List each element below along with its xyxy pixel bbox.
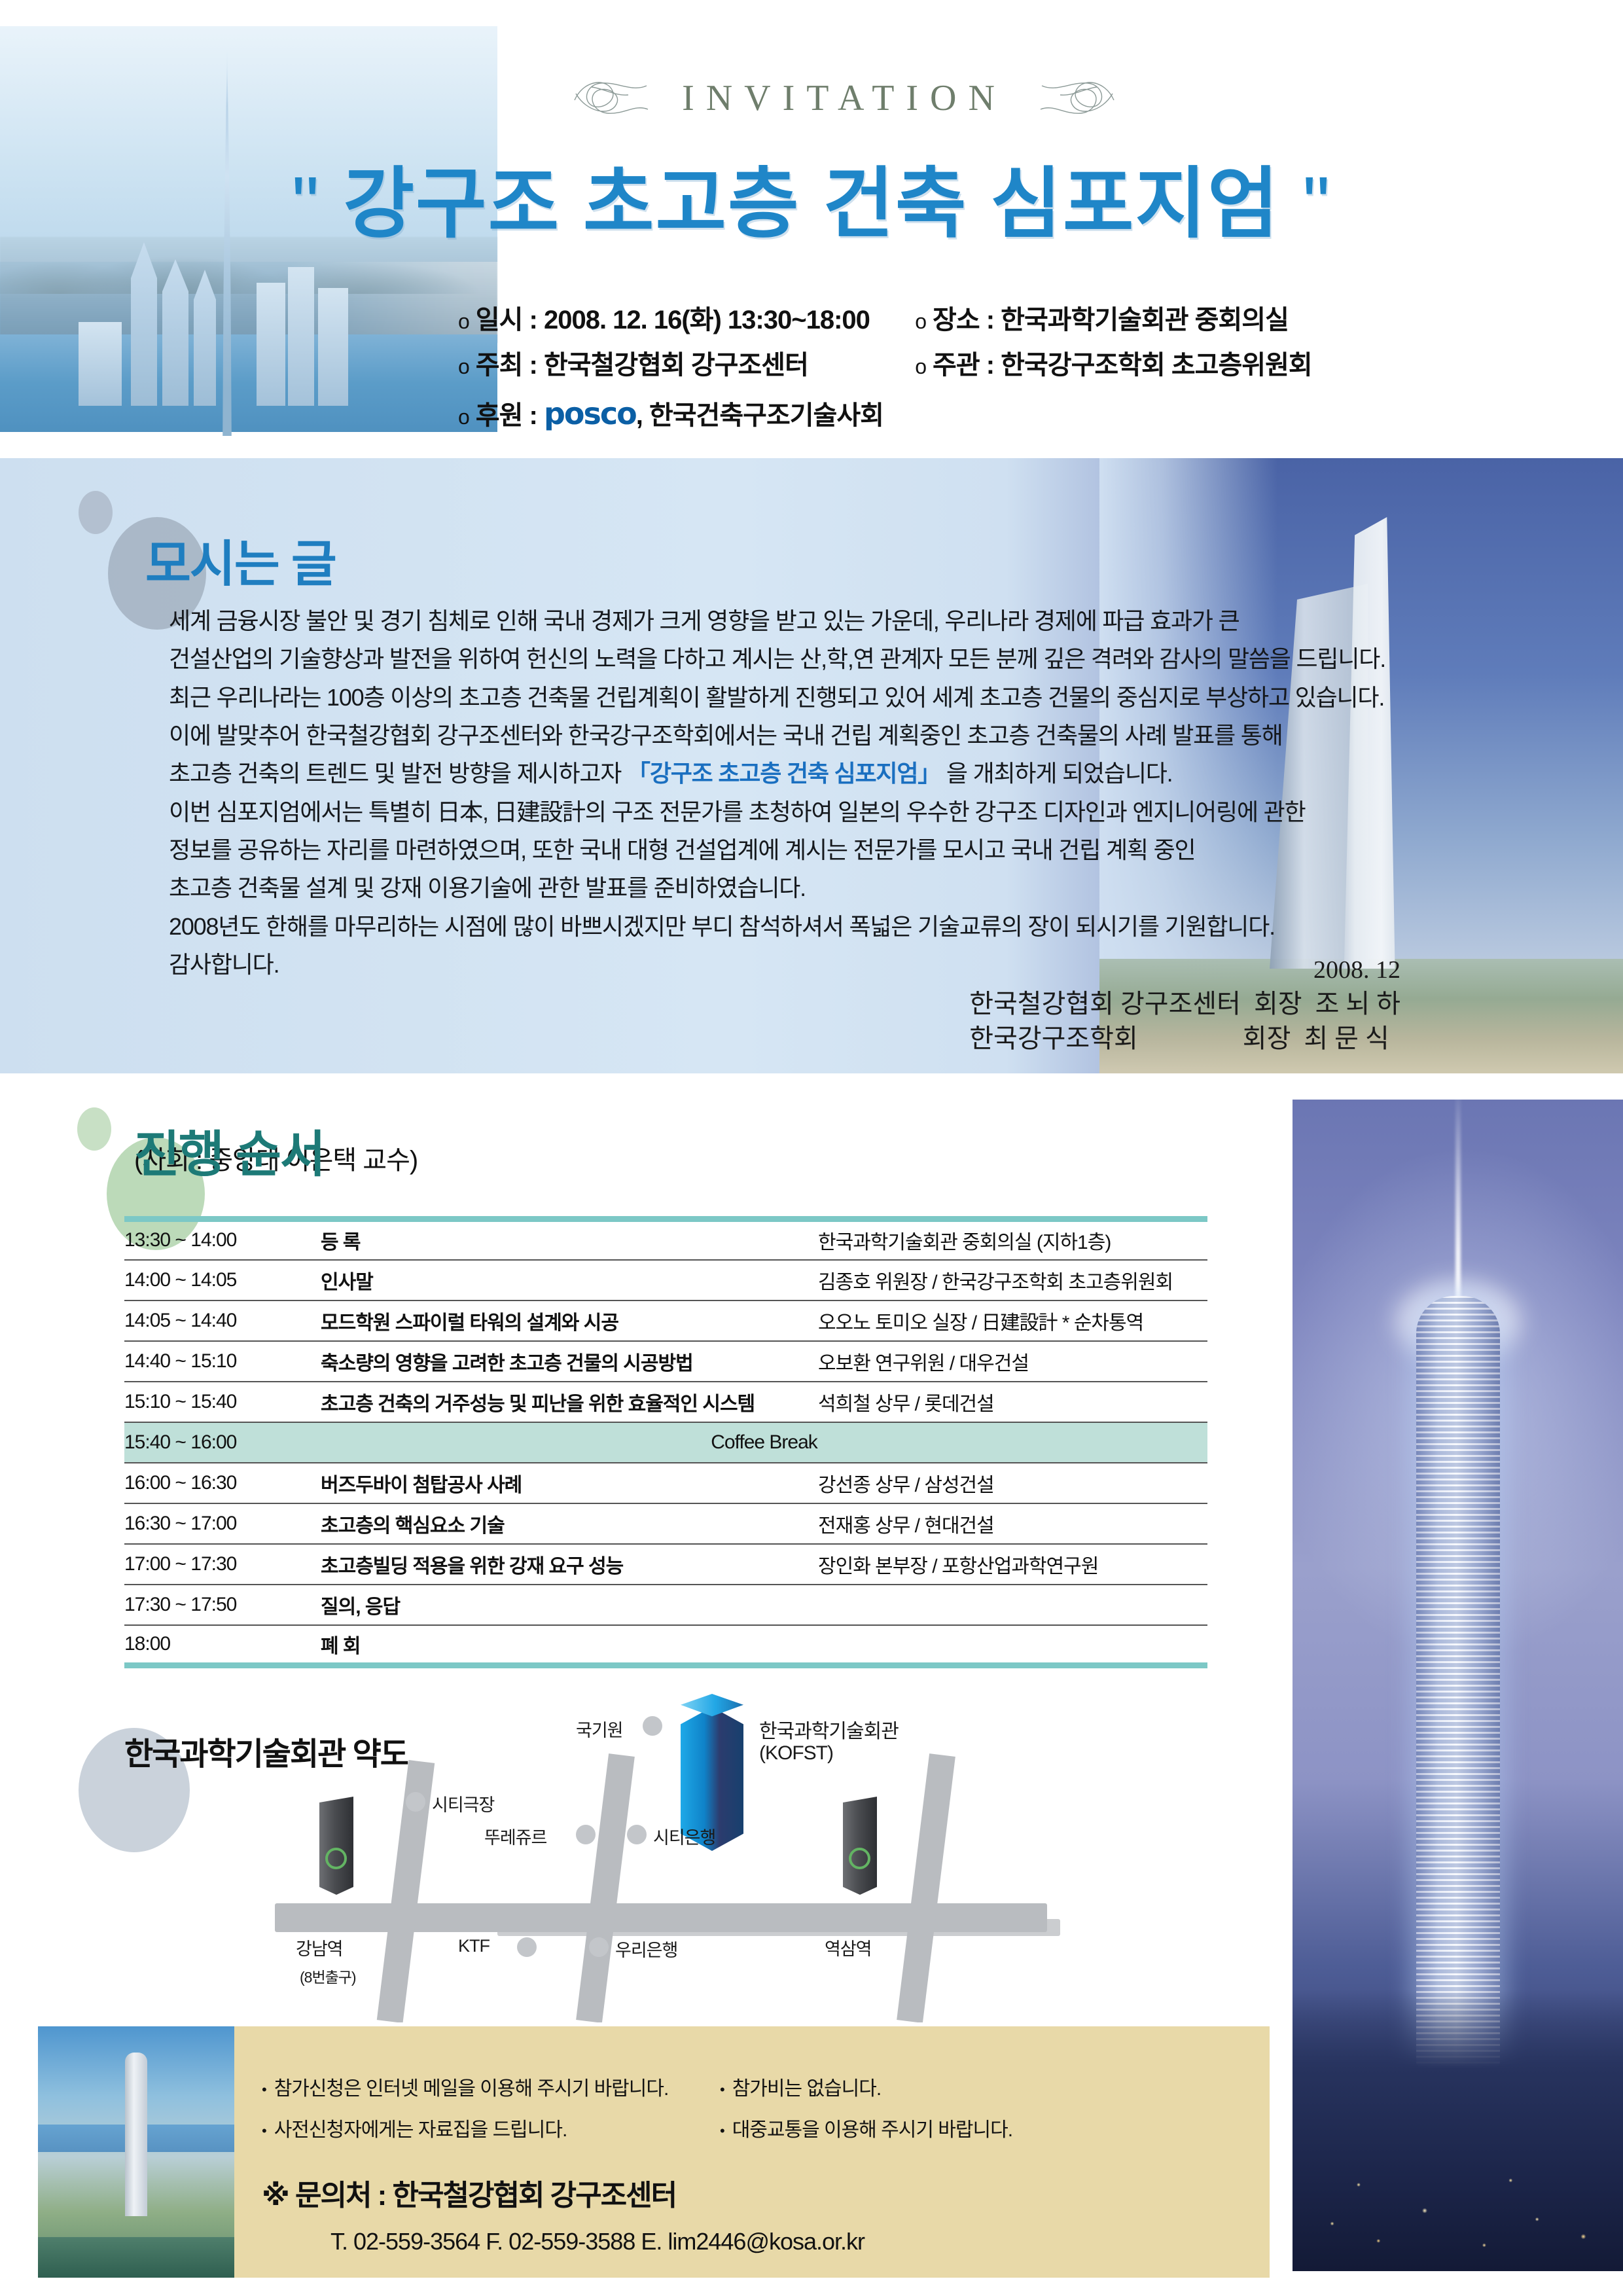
subway-ring-icon — [849, 1848, 870, 1869]
detail-organizer-value: 한국강구조학회 초고층위원회 — [1001, 351, 1312, 380]
bullet-circle-icon: o — [915, 355, 926, 378]
row-time: 13:30 ~ 14:00 — [124, 1219, 321, 1260]
row-topic: 초고층빌딩 적용을 위한 강재 요구 성능 — [321, 1544, 818, 1585]
detail-host-value: 한국철강협회 강구조센터 — [544, 351, 808, 380]
bullet-circle-icon: o — [458, 355, 469, 378]
table-row: 14:05 ~ 14:40 모드학원 스파이럴 타워의 설계와 시공 오오노 토… — [124, 1300, 1207, 1341]
map-label-gangnam-station: 강남역 — [296, 1935, 343, 1960]
bullet-circle-icon: o — [458, 310, 469, 333]
detail-organizer: o주관 : 한국강구조학회 초고층위원회 — [915, 343, 1584, 388]
block-tower-a — [257, 283, 285, 406]
bullet-dot-icon: • — [262, 2123, 266, 2139]
row-topic: 초고층 건축의 거주성능 및 피난을 위한 효율적인 시스템 — [321, 1382, 818, 1422]
map-label-city-theater: 시티극장 — [432, 1791, 494, 1816]
greeting-paragraph: 초고층 건축물 설계 및 강재 이용기술에 관한 발표를 준비하였습니다. — [169, 869, 1334, 907]
map-dot-tous — [576, 1825, 596, 1844]
posco-logo: posco — [544, 396, 636, 431]
signature-line-1: 한국철강협회 강구조센터 회장 조 뇌 하 — [969, 987, 1400, 1022]
greeting-paragraph: 이에 발맞추어 한국철강협회 강구조센터와 한국강구조학회에서는 국내 건립 계… — [169, 717, 1334, 755]
detail-host-label: 주최 — [476, 351, 523, 380]
contact-detail[interactable]: T. 02-559-3564 F. 02-559-3588 E. lim2446… — [330, 2228, 865, 2255]
bullet-dot-icon: • — [262, 2081, 266, 2098]
program-heading: 진행 순서 — [134, 1114, 325, 1186]
map-label-ktf: KTF — [458, 1936, 490, 1956]
signature-line-2: 한국강구조학회 회장 최 문 식 — [969, 1022, 1400, 1056]
footer-note: •참가비는 없습니다. — [720, 2068, 1178, 2109]
block-tower-b — [288, 267, 314, 406]
row-speaker — [818, 1625, 1207, 1666]
detail-sponsor-label: 후원 — [476, 401, 523, 430]
row-speaker: 한국과학기술회관 중회의실 (지하1층) — [818, 1219, 1207, 1260]
footer-notes: •참가신청은 인터넷 메일을 이용해 주시기 바랍니다. •참가비는 없습니다.… — [262, 2068, 1243, 2151]
title-quote-open: " — [292, 161, 321, 247]
row-time: 17:00 ~ 17:30 — [124, 1544, 321, 1585]
detail-venue-label: 장소 — [933, 306, 980, 334]
river-water — [0, 334, 497, 432]
table-row: 18:00 폐 회 — [124, 1625, 1207, 1666]
row-speaker: 석희철 상무 / 롯데건설 — [818, 1382, 1207, 1422]
greeting-paragraph-highlight: 초고층 건축의 트렌드 및 발전 방향을 제시하고자 「강구조 초고층 건축 심… — [169, 755, 1334, 793]
greeting-heading: 모시는 글 — [145, 524, 336, 596]
road-horizontal-lower — [497, 1919, 1060, 1936]
thumb-foreground-water — [38, 2237, 234, 2278]
subway-ring-icon — [325, 1848, 347, 1869]
tower-body — [1416, 1296, 1500, 2068]
detail-venue: o장소 : 한국과학기술회관 중회의실 — [915, 298, 1584, 343]
invitation-word: INVITATION — [682, 77, 1007, 119]
hl-before: 초고층 건축의 트렌드 및 발전 방향을 제시하고자 — [169, 760, 627, 787]
detail-sponsor-rest: , 한국건축구조기술사회 — [636, 401, 883, 430]
map-label-woori: 우리은행 — [615, 1936, 677, 1962]
schedule-body: 13:30 ~ 14:00 등 록 한국과학기술회관 중회의실 (지하1층) 1… — [124, 1219, 1207, 1666]
road-vertical-right — [897, 1753, 955, 2023]
map-dot-woori — [589, 1937, 609, 1957]
table-row: 14:40 ~ 15:10 축소량의 영향을 고려한 초고층 건물의 시공방법 … — [124, 1341, 1207, 1382]
signature-date: 2008. 12 — [969, 956, 1400, 984]
row-time: 14:40 ~ 15:10 — [124, 1341, 321, 1382]
row-topic: 모드학원 스파이럴 타워의 설계와 시공 — [321, 1300, 818, 1341]
bullet-circle-icon: o — [458, 405, 469, 429]
title-quote-close: " — [1302, 161, 1331, 247]
detail-venue-value: 한국과학기술회관 중회의실 — [1001, 306, 1289, 334]
row-speaker: 김종호 위원장 / 한국강구조학회 초고층위원회 — [818, 1260, 1207, 1300]
row-time: 15:10 ~ 15:40 — [124, 1382, 321, 1422]
detail-host: o주최 : 한국철강협회 강구조센터 — [458, 343, 915, 388]
row-time: 17:30 ~ 17:50 — [124, 1585, 321, 1625]
flourish-right-icon — [1038, 74, 1116, 122]
row-topic: Coffee Break — [321, 1422, 1207, 1463]
row-topic: 폐 회 — [321, 1625, 818, 1666]
footer-note-text: 사전신청자에게는 자료집을 드립니다. — [274, 2119, 567, 2141]
block-tower-d — [79, 322, 122, 406]
detail-date-value: 2008. 12. 16(화) 13:30~18:00 — [544, 306, 870, 334]
table-row-break: 15:40 ~ 16:00 Coffee Break — [124, 1422, 1207, 1463]
greeting-paragraph: 2008년도 한해를 마무리하는 시점에 많이 바쁘시겠지만 부디 참석하셔서 … — [169, 908, 1334, 946]
flourish-left-icon — [572, 74, 651, 122]
row-time: 14:00 ~ 14:05 — [124, 1260, 321, 1300]
detail-sponsor: o후원 : posco, 한국건축구조기술사회 — [458, 388, 1243, 440]
road-vertical-mid — [576, 1753, 635, 2023]
bullet-dot-icon: • — [720, 2081, 724, 2098]
row-speaker: 오오노 토미오 실장 / 日建設計 * 순차통역 — [818, 1300, 1207, 1341]
block-tower-c — [318, 288, 348, 406]
row-time: 16:00 ~ 16:30 — [124, 1463, 321, 1503]
map-title: 한국과학기술회관 약도 — [124, 1728, 408, 1774]
symposium-name-highlight: 「강구조 초고층 건축 심포지엄」 — [627, 760, 940, 787]
greeting-paragraph: 건설산업의 기술향상과 발전을 위하여 헌신의 노력을 다하고 계시는 산,학,… — [169, 640, 1334, 678]
row-time: 18:00 — [124, 1625, 321, 1666]
greeting-paragraph: 세계 금융시장 불안 및 경기 침체로 인해 국내 경제가 크게 영향을 받고 … — [169, 602, 1334, 640]
map-label-kofst-name: 한국과학기술회관 — [759, 1715, 899, 1744]
event-details: o일시 : 2008. 12. 16(화) 13:30~18:00 o장소 : … — [458, 298, 1584, 440]
greeting-paragraph: 정보를 공유하는 자리를 마련하였으며, 또한 국내 대형 건설업계에 계시는 … — [169, 831, 1334, 869]
table-row: 16:30 ~ 17:00 초고층의 핵심요소 기술 전재홍 상무 / 현대건설 — [124, 1503, 1207, 1544]
title-text: 강구조 초고층 건축 심포지엄 — [343, 161, 1279, 247]
map-label-gangnam-exit: (8번출구) — [300, 1965, 356, 1987]
program-schedule-table: 13:30 ~ 14:00 등 록 한국과학기술회관 중회의실 (지하1층) 1… — [124, 1216, 1207, 1668]
map-label-yeoksam-station: 역삼역 — [825, 1935, 872, 1960]
row-topic: 버즈두바이 첨탑공사 사례 — [321, 1463, 818, 1503]
table-row: 17:00 ~ 17:30 초고층빌딩 적용을 위한 강재 요구 성능 장인화 … — [124, 1544, 1207, 1585]
footer-note: •사전신청자에게는 자료집을 드립니다. — [262, 2109, 720, 2151]
row-topic: 초고층의 핵심요소 기술 — [321, 1503, 818, 1544]
map-label-tous: 뚜레쥬르 — [484, 1823, 546, 1849]
greeting-paragraph: 최근 우리나라는 100층 이상의 초고층 건축물 건립계획이 활발하게 진행되… — [169, 679, 1334, 717]
table-row: 14:00 ~ 14:05 인사말 김종호 위원장 / 한국강구조학회 초고층위… — [124, 1260, 1207, 1300]
footer-note: •참가신청은 인터넷 메일을 이용해 주시기 바랍니다. — [262, 2068, 720, 2109]
row-time: 16:30 ~ 17:00 — [124, 1503, 321, 1544]
city-blocks — [0, 237, 497, 342]
map-label-citibank: 시티은행 — [653, 1823, 715, 1849]
row-speaker: 오보환 연구위원 / 대우건설 — [818, 1341, 1207, 1382]
table-row: 17:30 ~ 17:50 질의, 응답 — [124, 1585, 1207, 1625]
map-label-kofst-code: (KOFST) — [759, 1742, 833, 1765]
row-topic: 축소량의 영향을 고려한 초고층 건물의 시공방법 — [321, 1341, 818, 1382]
footer-note-text: 참가비는 없습니다. — [732, 2078, 881, 2100]
night-tower-image — [1293, 1100, 1623, 2271]
row-time: 14:05 ~ 14:40 — [124, 1300, 321, 1341]
bullet-circle-icon: o — [915, 310, 926, 333]
row-speaker: 전재홍 상무 / 현대건설 — [818, 1503, 1207, 1544]
bullet-dot-icon: • — [720, 2123, 724, 2139]
decor-blob-small-green — [77, 1107, 111, 1151]
hero-banner: INVITATION " 강구조 초고층 건축 심포지엄 " o일시 : 200… — [0, 0, 1623, 458]
map-dot-citibank — [627, 1825, 647, 1844]
table-row: 13:30 ~ 14:00 등 록 한국과학기술회관 중회의실 (지하1층) — [124, 1219, 1207, 1260]
map-label-gukgiwon: 국기원 — [576, 1716, 623, 1742]
greeting-paragraph: 이번 심포지엄에서는 특별히 日本, 日建設計의 구조 전문가를 초청하여 일본… — [169, 793, 1334, 831]
thumb-tower — [125, 2053, 147, 2216]
row-speaker — [818, 1585, 1207, 1625]
map-dot-ktf — [517, 1937, 537, 1957]
footer-note-text: 대중교통을 이용해 주시기 바랍니다. — [732, 2119, 1012, 2141]
yeoksam-station-marker — [843, 1797, 877, 1895]
hl-after: 을 개최하게 되었습니다. — [940, 760, 1172, 787]
detail-date: o일시 : 2008. 12. 16(화) 13:30~18:00 — [458, 298, 915, 343]
footer-note-text: 참가신청은 인터넷 메일을 이용해 주시기 바랍니다. — [274, 2078, 669, 2100]
table-row: 16:00 ~ 16:30 버즈두바이 첨탑공사 사례 강선종 상무 / 삼성건… — [124, 1463, 1207, 1503]
page-title: " 강구조 초고층 건축 심포지엄 " — [0, 141, 1623, 253]
table-row: 15:10 ~ 15:40 초고층 건축의 거주성능 및 피난을 위한 효율적인… — [124, 1382, 1207, 1422]
detail-date-label: 일시 — [476, 306, 523, 334]
row-topic: 등 록 — [321, 1219, 818, 1260]
night-city-lights — [1293, 2055, 1623, 2271]
footer-contact: ※ 문의처 : 한국철강협회 강구조센터 T. 02-559-3564 F. 0… — [262, 2172, 865, 2255]
row-topic: 인사말 — [321, 1260, 818, 1300]
row-time: 15:40 ~ 16:00 — [124, 1422, 321, 1463]
greeting-body: 세계 금융시장 불안 및 경기 침체로 인해 국내 경제가 크게 영향을 받고 … — [169, 602, 1334, 984]
row-speaker: 강선종 상무 / 삼성건설 — [818, 1463, 1207, 1503]
greeting-signature: 2008. 12 한국철강협회 강구조센터 회장 조 뇌 하 한국강구조학회 회… — [969, 956, 1400, 1056]
footer-thumbnail-image — [38, 2026, 234, 2278]
detail-organizer-label: 주관 — [933, 351, 980, 380]
row-topic: 질의, 응답 — [321, 1585, 818, 1625]
invitation-header-row: INVITATION — [458, 62, 1230, 134]
program-header: 진행 순서 (사회 : 중앙대 이은택 교수) — [134, 1139, 418, 1186]
gangnam-station-marker — [319, 1797, 353, 1895]
contact-heading: ※ 문의처 : 한국철강협회 강구조센터 — [262, 2172, 865, 2214]
map-dot-city-theater — [406, 1792, 425, 1812]
map-dot-gukgiwon — [643, 1716, 662, 1736]
footer-note: •대중교통을 이용해 주시기 바랍니다. — [720, 2109, 1178, 2151]
row-speaker: 장인화 본부장 / 포항산업과학연구원 — [818, 1544, 1207, 1585]
decor-blob-small — [79, 491, 113, 534]
